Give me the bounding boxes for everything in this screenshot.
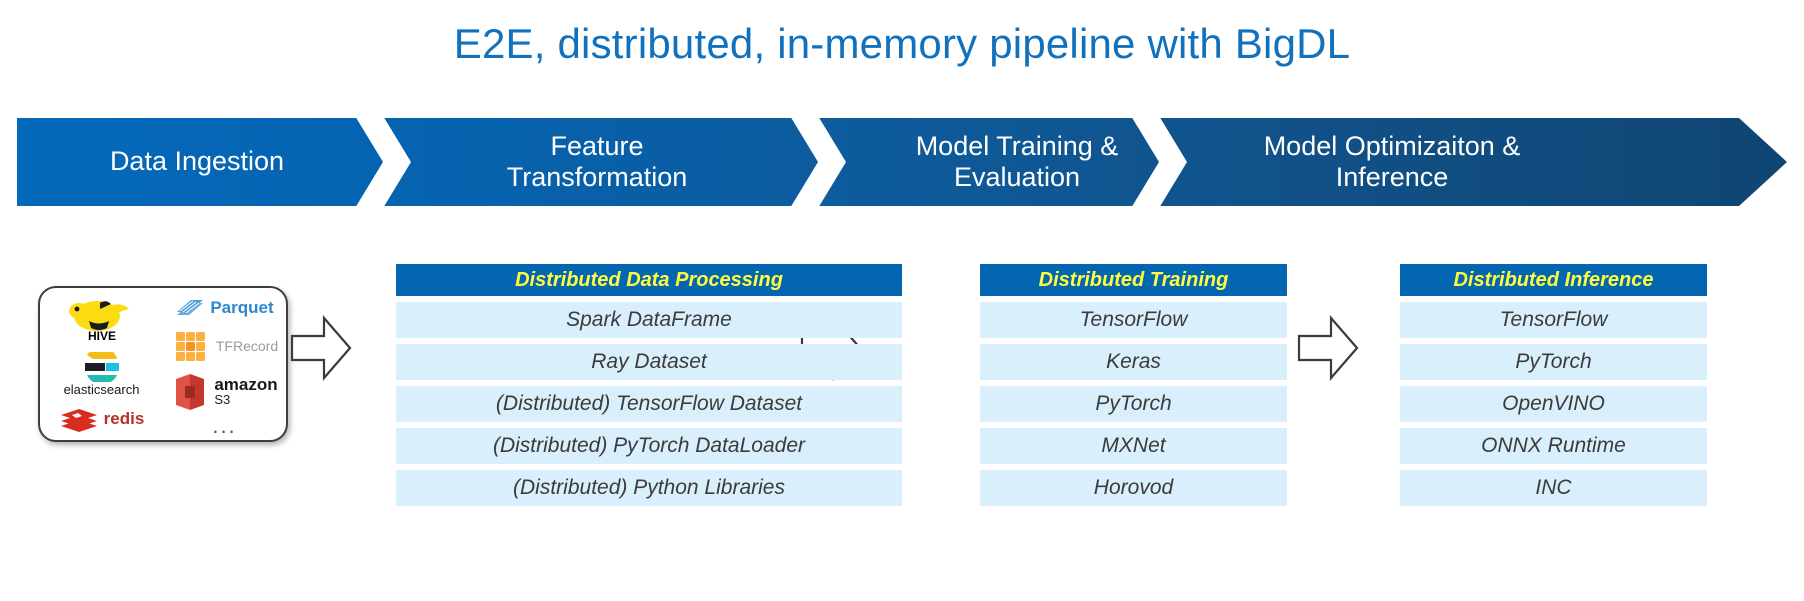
table-row[interactable]: TensorFlow — [980, 302, 1287, 338]
amazon-s3-label-group: amazon S3 — [214, 376, 277, 407]
source-item-parquet: Parquet — [175, 296, 273, 320]
table-distributed-data-processing: Distributed Data Processing Spark DataFr… — [396, 264, 902, 506]
table-row[interactable]: (Distributed) TensorFlow Dataset — [396, 386, 902, 422]
pipeline-stage-model-optimization[interactable]: Model Optimizaiton & Inference — [1192, 118, 1592, 206]
table-row[interactable]: PyTorch — [1400, 344, 1707, 380]
table-row[interactable]: Spark DataFrame — [396, 302, 902, 338]
stage-label-text: Model Training & Evaluation — [916, 131, 1119, 194]
table-row[interactable]: INC — [1400, 470, 1707, 506]
source-item-redis: redis — [59, 407, 145, 431]
flow-arrow-1-icon — [290, 312, 352, 389]
table-header: Distributed Inference — [1400, 264, 1707, 296]
source-item-elasticsearch: elasticsearch — [64, 352, 140, 397]
stage-label-text: Model Optimizaiton & Inference — [1264, 131, 1521, 194]
data-source-card: HIVE elasticsearch — [38, 286, 288, 442]
pipeline-stage-feature-transformation[interactable]: Feature Transformation — [417, 118, 777, 206]
redis-logo-icon — [59, 407, 99, 431]
source-item-amazon-s3: amazon S3 — [171, 372, 277, 412]
page-title: E2E, distributed, in-memory pipeline wit… — [0, 20, 1804, 68]
source-label: amazon — [214, 376, 277, 393]
source-label: elasticsearch — [64, 382, 140, 397]
table-row[interactable]: PyTorch — [980, 386, 1287, 422]
source-item-tfrecord: TFRecord — [171, 327, 278, 365]
stage-label-text: Feature Transformation — [507, 131, 688, 194]
pipeline-stage-data-ingestion[interactable]: Data Ingestion — [17, 118, 377, 206]
source-label: Parquet — [210, 298, 273, 318]
hive-logo-icon: HIVE — [67, 297, 137, 343]
source-column-right: Parquet TFRe — [163, 288, 286, 440]
table-row[interactable]: (Distributed) PyTorch DataLoader — [396, 428, 902, 464]
source-item-hive: HIVE — [67, 297, 137, 343]
amazon-s3-logo-icon — [171, 372, 209, 412]
flow-arrow-3-icon — [1297, 312, 1359, 389]
table-header: Distributed Data Processing — [396, 264, 902, 296]
table-distributed-inference: Distributed Inference TensorFlow PyTorch… — [1400, 264, 1707, 506]
table-row[interactable]: (Distributed) Python Libraries — [396, 470, 902, 506]
source-column-left: HIVE elasticsearch — [40, 288, 163, 440]
table-row[interactable]: OpenVINO — [1400, 386, 1707, 422]
stage-label-text: Data Ingestion — [110, 146, 284, 177]
table-row[interactable]: Ray Dataset — [396, 344, 902, 380]
table-header: Distributed Training — [980, 264, 1287, 296]
source-label: TFRecord — [216, 338, 278, 354]
table-row[interactable]: MXNet — [980, 428, 1287, 464]
tfrecord-logo-icon — [171, 327, 211, 365]
table-row[interactable]: ONNX Runtime — [1400, 428, 1707, 464]
ellipsis-icon: ... — [212, 419, 236, 432]
elasticsearch-logo-icon — [81, 352, 123, 382]
pipeline-banner: Data Ingestion Feature Transformation Mo… — [17, 118, 1787, 206]
table-distributed-training: Distributed Training TensorFlow Keras Py… — [980, 264, 1287, 506]
source-sublabel: S3 — [214, 393, 277, 407]
parquet-logo-icon — [175, 296, 205, 320]
table-row[interactable]: TensorFlow — [1400, 302, 1707, 338]
table-row[interactable]: Keras — [980, 344, 1287, 380]
pipeline-stage-model-training[interactable]: Model Training & Evaluation — [847, 118, 1187, 206]
svg-text:HIVE: HIVE — [87, 329, 115, 343]
source-label: redis — [104, 409, 145, 429]
table-row[interactable]: Horovod — [980, 470, 1287, 506]
